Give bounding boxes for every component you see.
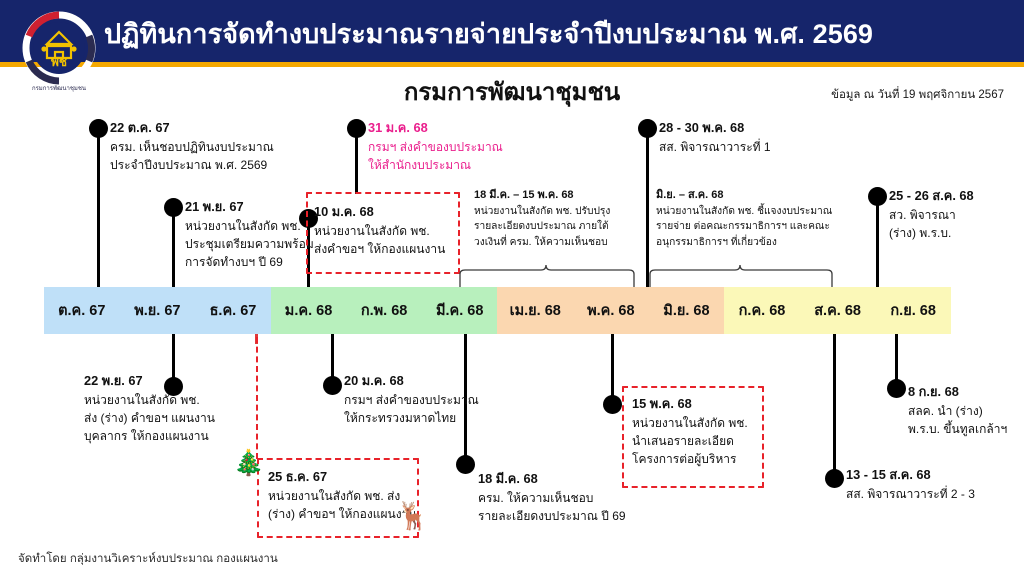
event-line: อนุกรรมาธิการฯ ที่เกี่ยวข้อง — [656, 235, 832, 250]
annotation-25-26aug68: 25 - 26 ส.ค. 68 สว. พิจารณา (ร่าง) พ.ร.บ… — [889, 187, 974, 242]
brace-18mar-15may68 — [458, 262, 636, 293]
annotation-13-15aug68: 13 - 15 ส.ค. 68 สส. พิจารณาวาระที่ 2 - 3 — [846, 466, 975, 503]
event-line: หน่วยงานในสังกัด พช. ส่ง — [268, 487, 417, 505]
stem-21nov67 — [172, 207, 175, 287]
event-line: โครงการต่อผู้บริหาร — [632, 450, 748, 468]
dot-21nov67 — [164, 198, 183, 217]
event-date: 25 ธ.ค. 67 — [268, 468, 417, 487]
annotation-18mar-15may68: 18 มี.ค. – 15 พ.ค. 68 หน่วยงานในสังกัด พ… — [474, 188, 610, 250]
event-line: หน่วยงานในสังกัด พช. — [314, 222, 445, 240]
month-cell-apr68[interactable]: เม.ย. 68 — [497, 287, 573, 334]
event-line: หน่วยงานในสังกัด พช. ชี้แจงงบประมาณ — [656, 204, 832, 219]
annotation-10jan68: 10 ม.ค. 68 หน่วยงานในสังกัด พช. ส่งคำขอฯ… — [314, 203, 445, 258]
event-line: หน่วยงานในสังกัด พช. ปรับปรุง — [474, 204, 610, 219]
annotation-20jan68: 20 ม.ค. 68 กรมฯ ส่งคำของบประมาณ ให้กระทร… — [344, 372, 479, 427]
annotation-15may68: 15 พ.ค. 68 หน่วยงานในสังกัด พช. นำเสนอรา… — [632, 395, 748, 468]
stem-20jan68 — [331, 334, 334, 382]
month-cell-feb68[interactable]: ก.พ. 68 — [346, 287, 422, 334]
event-line: วงเงินที่ ครม. ให้ความเห็นชอบ — [474, 235, 610, 250]
event-line: ส่งคำขอฯ ให้กองแผนงาน — [314, 240, 445, 258]
infographic-canvas: พช กรมการพัฒนาชุมชน ปฏิทินการจัดทำงบประม… — [0, 0, 1024, 576]
event-line: สส. พิจารณาวาระที่ 1 — [659, 138, 771, 156]
dot-28-30may68 — [638, 119, 657, 138]
dot-8sep68 — [887, 379, 906, 398]
header-accent-stripe — [0, 62, 1024, 67]
annotation-18mar68: 18 มี.ค. 68 ครม. ให้ความเห็นชอบ รายละเอี… — [478, 470, 626, 525]
month-cell-jul68[interactable]: ก.ค. 68 — [724, 287, 800, 334]
stem-25-26aug68 — [876, 196, 879, 287]
event-line: พ.ร.บ. ขึ้นทูลเกล้าฯ — [908, 420, 1007, 438]
event-date: 15 พ.ค. 68 — [632, 395, 748, 414]
event-line: ให้สำนักงบประมาณ — [368, 156, 503, 174]
month-cell-jan68[interactable]: ม.ค. 68 — [271, 287, 347, 334]
event-line: ให้กระทรวงมหาดไทย — [344, 409, 479, 427]
event-line: สลค. นำ (ร่าง) — [908, 402, 1007, 420]
event-date: 13 - 15 ส.ค. 68 — [846, 466, 975, 485]
stem-22oct67 — [97, 128, 100, 287]
event-line: นำเสนอรายละเอียด — [632, 432, 748, 450]
event-line: รายละเอียดงบประมาณ ปี 69 — [478, 507, 626, 525]
page-title: ปฏิทินการจัดทำงบประมาณรายจ่ายประจำปีงบปร… — [104, 12, 964, 55]
month-cell-dec67[interactable]: ธ.ค. 67 — [195, 287, 271, 334]
event-date: 22 ต.ค. 67 — [110, 119, 274, 138]
annotation-8sep68: 8 ก.ย. 68 สลค. นำ (ร่าง) พ.ร.บ. ขึ้นทูลเ… — [908, 383, 1007, 438]
event-line: บุคลากร ให้กองแผนงาน — [84, 427, 215, 445]
month-cell-oct67[interactable]: ต.ค. 67 — [44, 287, 120, 334]
event-date: 10 ม.ค. 68 — [314, 203, 445, 222]
annotation-jun-aug68: มิ.ย. – ส.ค. 68 หน่วยงานในสังกัด พช. ชี้… — [656, 188, 832, 250]
event-line: ครม. ให้ความเห็นชอบ — [478, 489, 626, 507]
callout-connector-25dec67 — [256, 337, 258, 459]
annotation-25dec67: 25 ธ.ค. 67 หน่วยงานในสังกัด พช. ส่ง (ร่า… — [268, 468, 417, 523]
event-line: หน่วยงานในสังกัด พช. — [84, 391, 215, 409]
footer-credit: จัดทำโดย กลุ่มงานวิเคราะห์งบประมาณ กองแผ… — [18, 550, 278, 568]
timeline-bar: ต.ค. 67 พ.ย. 67 ธ.ค. 67 ม.ค. 68 ก.พ. 68 … — [44, 287, 951, 334]
event-line: สว. พิจารณา — [889, 206, 974, 224]
event-date: 28 - 30 พ.ค. 68 — [659, 119, 771, 138]
month-cell-may68[interactable]: พ.ค. 68 — [573, 287, 649, 334]
event-line: หน่วยงานในสังกัด พช. — [185, 217, 314, 235]
stem-15may68 — [611, 334, 614, 401]
month-cell-sep68[interactable]: ก.ย. 68 — [875, 287, 951, 334]
annotation-22oct67: 22 ต.ค. 67 ครม. เห็นชอบปฏิทินงบประมาณ ปร… — [110, 119, 274, 174]
dot-22oct67 — [89, 119, 108, 138]
event-line: ครม. เห็นชอบปฏิทินงบประมาณ — [110, 138, 274, 156]
event-date: 21 พ.ย. 67 — [185, 198, 314, 217]
event-line: ส่ง (ร่าง) คำขอฯ แผนงาน — [84, 409, 215, 427]
month-cell-nov67[interactable]: พ.ย. 67 — [120, 287, 196, 334]
dot-18mar68 — [456, 455, 475, 474]
annotation-22nov67: 22 พ.ย. 67 หน่วยงานในสังกัด พช. ส่ง (ร่า… — [84, 372, 215, 445]
event-line: กรมฯ ส่งคำของบประมาณ — [368, 138, 503, 156]
dot-25-26aug68 — [868, 187, 887, 206]
event-date: 25 - 26 ส.ค. 68 — [889, 187, 974, 206]
christmas-wreath-icon: 🎄 — [233, 451, 264, 476]
reindeer-icon: 🦌 — [396, 503, 430, 530]
event-line: (ร่าง) คำขอฯ ให้กองแผนงาน — [268, 505, 417, 523]
event-line: รายจ่าย ต่อคณะกรรมาธิการฯ และคณะ — [656, 219, 832, 234]
event-line: หน่วยงานในสังกัด พช. — [632, 414, 748, 432]
event-date: 31 ม.ค. 68 — [368, 119, 503, 138]
event-date: 18 มี.ค. 68 — [478, 470, 626, 489]
month-cell-mar68[interactable]: มี.ค. 68 — [422, 287, 498, 334]
event-date: 22 พ.ย. 67 — [84, 372, 215, 391]
annotation-31jan68: 31 ม.ค. 68 กรมฯ ส่งคำของบประมาณ ให้สำนัก… — [368, 119, 503, 174]
dot-20jan68 — [323, 376, 342, 395]
dot-15may68 — [603, 395, 622, 414]
brace-jun-aug68 — [648, 262, 834, 293]
as-of-date: ข้อมูล ณ วันที่ 19 พฤศจิกายน 2567 — [831, 86, 1004, 104]
event-line: ประชุมเตรียมความพร้อม — [185, 235, 314, 253]
event-date: 18 มี.ค. – 15 พ.ค. 68 — [474, 188, 610, 204]
event-line: รายละเอียดงบประมาณ ภายใต้ — [474, 219, 610, 234]
annotation-21nov67: 21 พ.ย. 67 หน่วยงานในสังกัด พช. ประชุมเต… — [185, 198, 314, 271]
event-line: ประจำปีงบประมาณ พ.ศ. 2569 — [110, 156, 274, 174]
month-cell-jun68[interactable]: มิ.ย. 68 — [649, 287, 725, 334]
event-line: สส. พิจารณาวาระที่ 2 - 3 — [846, 485, 975, 503]
event-date: 8 ก.ย. 68 — [908, 383, 1007, 402]
event-date: มิ.ย. – ส.ค. 68 — [656, 188, 832, 204]
month-cell-aug68[interactable]: ส.ค. 68 — [800, 287, 876, 334]
event-line: (ร่าง) พ.ร.บ. — [889, 224, 974, 242]
stem-8sep68 — [895, 334, 898, 384]
event-line: การจัดทำงบฯ ปี 69 — [185, 253, 314, 271]
svg-text:พช: พช — [51, 55, 67, 69]
stem-13-15aug68 — [833, 334, 836, 474]
dot-13-15aug68 — [825, 469, 844, 488]
event-line: กรมฯ ส่งคำของบประมาณ — [344, 391, 479, 409]
dot-31jan68 — [347, 119, 366, 138]
event-date: 20 ม.ค. 68 — [344, 372, 479, 391]
annotation-28-30may68: 28 - 30 พ.ค. 68 สส. พิจารณาวาระที่ 1 — [659, 119, 771, 156]
